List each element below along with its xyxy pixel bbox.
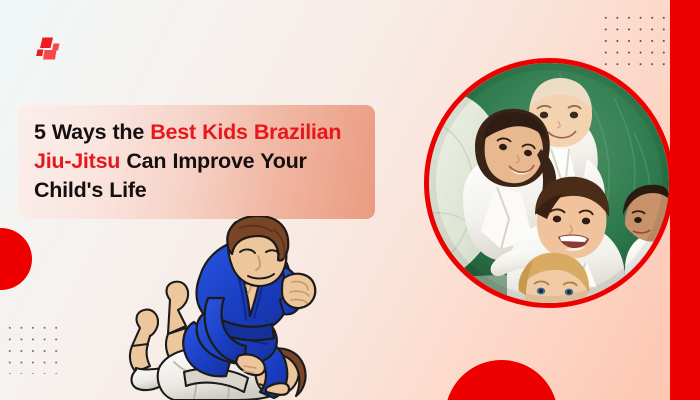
jiu-jitsu-mount-illustration-artwork (88, 216, 336, 400)
tiled-squares-logo-icon (34, 37, 60, 61)
jiu-jitsu-mount-illustration (88, 216, 336, 400)
headline-lead-text: 5 Ways the (34, 120, 150, 144)
headline-card: 5 Ways the Best Kids Brazilian Jiu-Jitsu… (18, 105, 375, 219)
page-title: 5 Ways the Best Kids Brazilian Jiu-Jitsu… (34, 118, 359, 205)
red-half-circle-left-decoration (0, 228, 32, 290)
kids-bjj-class-photo (424, 58, 674, 308)
photo-inner-frame (429, 63, 669, 303)
red-half-circle-bottom-decoration (445, 360, 558, 400)
banner-canvas: 5 Ways the Best Kids Brazilian Jiu-Jitsu… (0, 0, 700, 400)
dot-grid-top-right-decoration (600, 12, 670, 74)
brand-logo[interactable] (34, 37, 60, 61)
dot-grid-bottom-left-decoration (4, 322, 64, 374)
kids-bjj-class-photo-artwork (429, 63, 669, 303)
red-bar-right-decoration (670, 0, 700, 400)
